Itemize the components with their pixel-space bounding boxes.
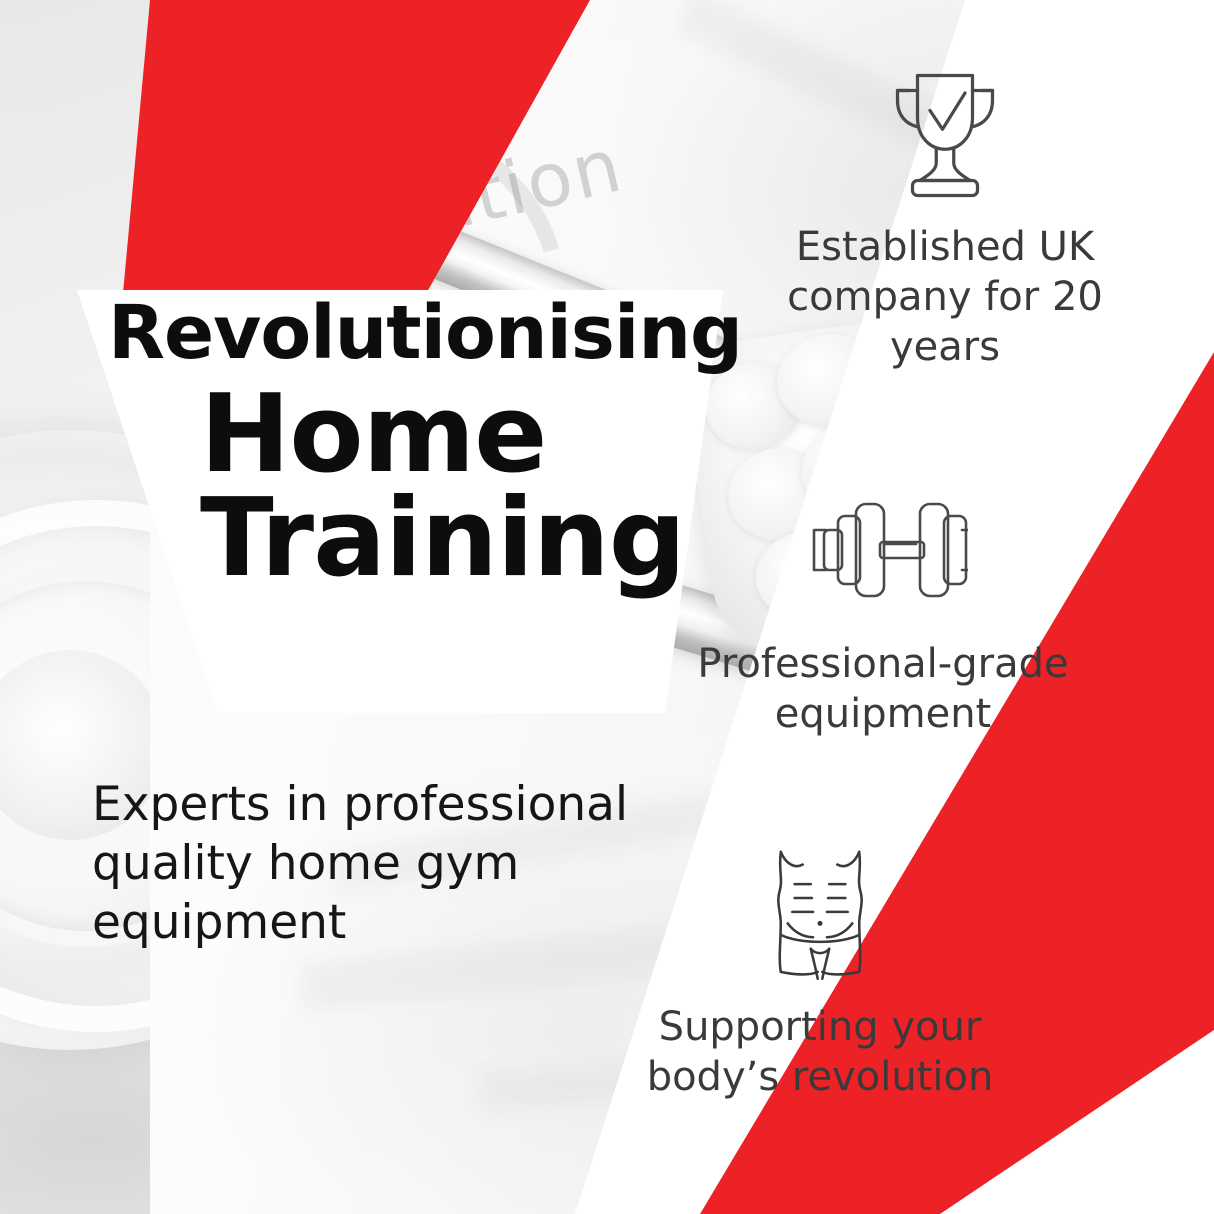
promo-banner: revolution Revolutionising Home Training… [0, 0, 1214, 1214]
page-title: Revolutionising Home Training [108, 296, 748, 594]
feature-label: Professional-grade equipment [668, 639, 1098, 739]
headline-line-3: Training [200, 484, 748, 594]
headline-line-1: Revolutionising [108, 296, 748, 370]
feature-item-equipment: Professional-grade equipment [668, 475, 1098, 739]
feature-list: Established UK company for 20 years [700, 0, 1214, 1214]
feature-item-established: Established UK company for 20 years [730, 58, 1160, 372]
dumbbell-icon [668, 475, 1098, 625]
feature-item-body: Supporting your body’s revolution [605, 838, 1035, 1102]
feature-label: Established UK company for 20 years [730, 222, 1160, 372]
feature-label: Supporting your body’s revolution [605, 1002, 1035, 1102]
trophy-icon [730, 58, 1160, 208]
torso-icon [605, 838, 1035, 988]
body-copy: Experts in professional quality home gym… [92, 775, 672, 953]
headline-line-2: Home [200, 380, 748, 490]
